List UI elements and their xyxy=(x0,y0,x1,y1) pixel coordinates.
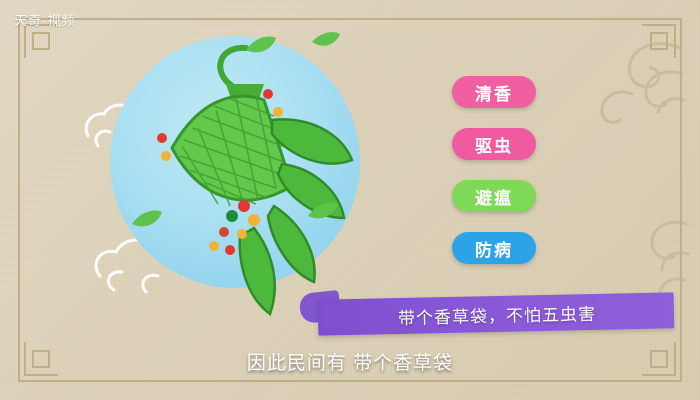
corner-ornament-top-left xyxy=(24,24,58,58)
herb-sachet-illustration xyxy=(96,28,386,328)
frame-line-left xyxy=(18,18,20,382)
keyword-pill-2[interactable]: 驱虫 xyxy=(452,128,536,160)
keyword-pill-1[interactable]: 清香 xyxy=(452,76,536,108)
keyword-pill-2-label: 驱虫 xyxy=(475,132,513,157)
video-subtitle: 因此民间有 带个香草袋 xyxy=(0,348,700,375)
frame-line-bottom xyxy=(18,380,682,382)
frame-line-top xyxy=(18,18,682,20)
keyword-pill-4-label: 防病 xyxy=(475,236,513,261)
corner-ornament-top-right xyxy=(642,24,676,58)
keyword-pill-3-label: 避瘟 xyxy=(475,184,513,209)
frame-line-right xyxy=(680,18,682,382)
video-frame: 天奇·视频 xyxy=(0,0,700,400)
keyword-pill-1-label: 清香 xyxy=(475,80,513,105)
channel-watermark: 天奇·视频 xyxy=(14,10,75,29)
keyword-pill-list: 清香 驱虫 避瘟 防病 xyxy=(452,76,562,284)
keyword-pill-4[interactable]: 防病 xyxy=(452,232,536,264)
keyword-pill-3[interactable]: 避瘟 xyxy=(452,180,536,212)
